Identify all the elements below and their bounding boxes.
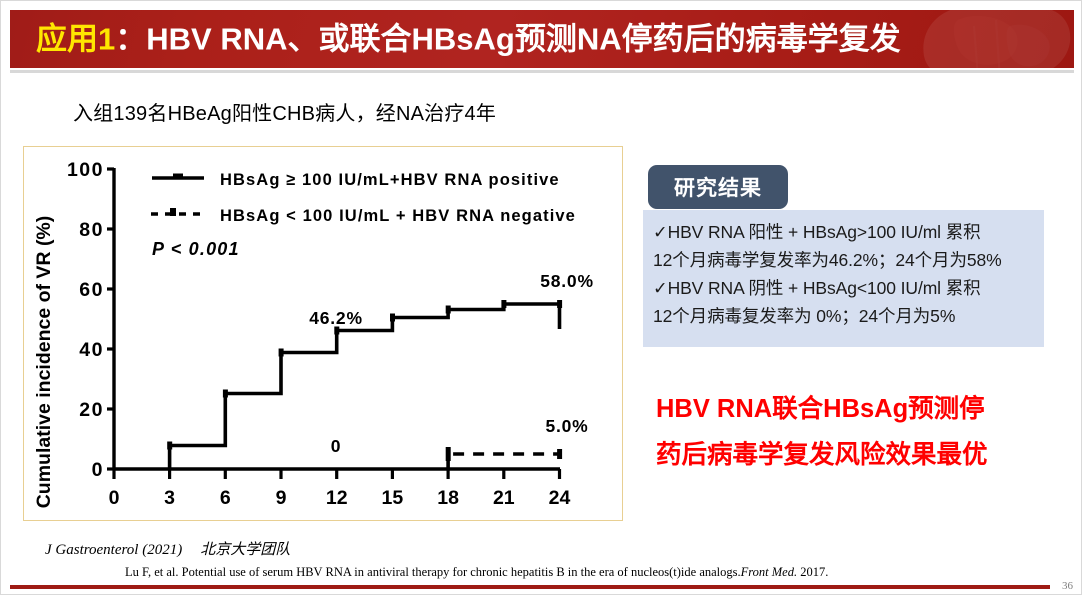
chart-legend: HBsAg ≥ 100 IU/mL+HBV RNA positive HBsAg… — [151, 171, 576, 225]
study-population-subtitle: 入组139名HBeAg阳性CHB病人，经NA治疗4年 — [73, 97, 496, 126]
citation-journal-name: Front Med. — [741, 565, 797, 579]
x-tick-labels: 0 3 6 9 12 15 18 21 24 — [109, 487, 571, 509]
kaplan-meier-chart: Cumulative incidence of VR (%) 100 80 60… — [24, 147, 622, 520]
legend-key-solid-mark-icon — [173, 174, 183, 178]
conclusion-block: HBV RNA联合HBsAg预测停 药后病毒学复发风险效果最优 — [656, 386, 1056, 478]
results-line-4: 12个月病毒复发率为 0%；24个月为5% — [653, 302, 1038, 330]
source-team: 北京大学团队 — [200, 542, 290, 558]
results-line-1: ✓HBV RNA 阳性 + HBsAg>100 IU/ml 累积 — [653, 218, 1038, 246]
liver-watermark-icon — [914, 10, 1074, 68]
legend-label-positive: HBsAg ≥ 100 IU/mL+HBV RNA positive — [220, 171, 560, 189]
source-reference: J Gastroenterol (2021)北京大学团队 — [45, 538, 290, 559]
svg-text:3: 3 — [164, 487, 175, 509]
p-value-annotation: P < 0.001 — [152, 239, 240, 259]
svg-text:0: 0 — [109, 487, 120, 509]
page-title-rest: ：HBV RNA、或联合HBsAg预测NA停药后的病毒学复发 — [115, 22, 900, 57]
conclusion-line-2: 药后病毒学复发风险效果最优 — [656, 432, 1056, 478]
conclusion-line-1: HBV RNA联合HBsAg预测停 — [656, 386, 1056, 432]
legend-key-dashed-mark-icon — [170, 208, 176, 216]
results-line-2: 12个月病毒学复发率为46.2%；24个月为58% — [653, 246, 1038, 274]
citation-year: 2017. — [797, 565, 828, 579]
y-tick-labels: 100 80 60 40 20 0 — [67, 159, 104, 481]
results-summary-box: ✓HBV RNA 阳性 + HBsAg>100 IU/ml 累积 12个月病毒学… — [643, 210, 1044, 347]
svg-text:18: 18 — [437, 487, 459, 509]
y-axis-label: Cumulative incidence of VR (%) — [33, 216, 55, 509]
annotation-46-2-percent: 46.2% — [309, 308, 363, 328]
legend-label-negative: HBsAg < 100 IU/mL + HBV RNA negative — [220, 207, 576, 225]
page-title-highlight: 应用1 — [36, 22, 115, 57]
svg-text:0: 0 — [92, 459, 104, 481]
svg-text:100: 100 — [67, 159, 104, 181]
series-negative-step-line — [448, 454, 559, 469]
results-line-3: ✓HBV RNA 阴性 + HBsAg<100 IU/ml 累积 — [653, 274, 1038, 302]
results-badge: 研究结果 — [648, 165, 788, 209]
svg-text:6: 6 — [220, 487, 231, 509]
footer-accent-bar — [10, 585, 1050, 589]
svg-text:60: 60 — [79, 279, 104, 301]
page-title: 应用1：HBV RNA、或联合HBsAg预测NA停药后的病毒学复发 — [36, 24, 901, 55]
annotation-58-percent: 58.0% — [540, 271, 594, 291]
series-positive-step-line — [170, 304, 560, 469]
svg-text:12: 12 — [326, 487, 348, 509]
kaplan-meier-chart-panel: Cumulative incidence of VR (%) 100 80 60… — [23, 146, 623, 521]
svg-text:40: 40 — [79, 339, 104, 361]
annotation-zero: 0 — [331, 436, 342, 456]
slide-root: 应用1：HBV RNA、或联合HBsAg预测NA停药后的病毒学复发 入组139名… — [0, 0, 1082, 595]
svg-text:21: 21 — [493, 487, 515, 509]
source-journal: J Gastroenterol (2021) — [45, 542, 182, 558]
results-badge-label: 研究结果 — [674, 172, 762, 202]
svg-text:20: 20 — [79, 399, 104, 421]
page-number: 36 — [1062, 580, 1073, 592]
slide-title-banner: 应用1：HBV RNA、或联合HBsAg预测NA停药后的病毒学复发 — [10, 10, 1074, 68]
annotation-5-percent: 5.0% — [545, 416, 588, 436]
banner-underline-divider — [10, 70, 1074, 73]
svg-text:15: 15 — [382, 487, 404, 509]
svg-text:80: 80 — [79, 219, 104, 241]
citation-line: Lu F, et al. Potential use of serum HBV … — [125, 565, 828, 580]
citation-main-text: Lu F, et al. Potential use of serum HBV … — [125, 565, 741, 579]
svg-text:9: 9 — [276, 487, 287, 509]
svg-text:24: 24 — [549, 487, 571, 509]
